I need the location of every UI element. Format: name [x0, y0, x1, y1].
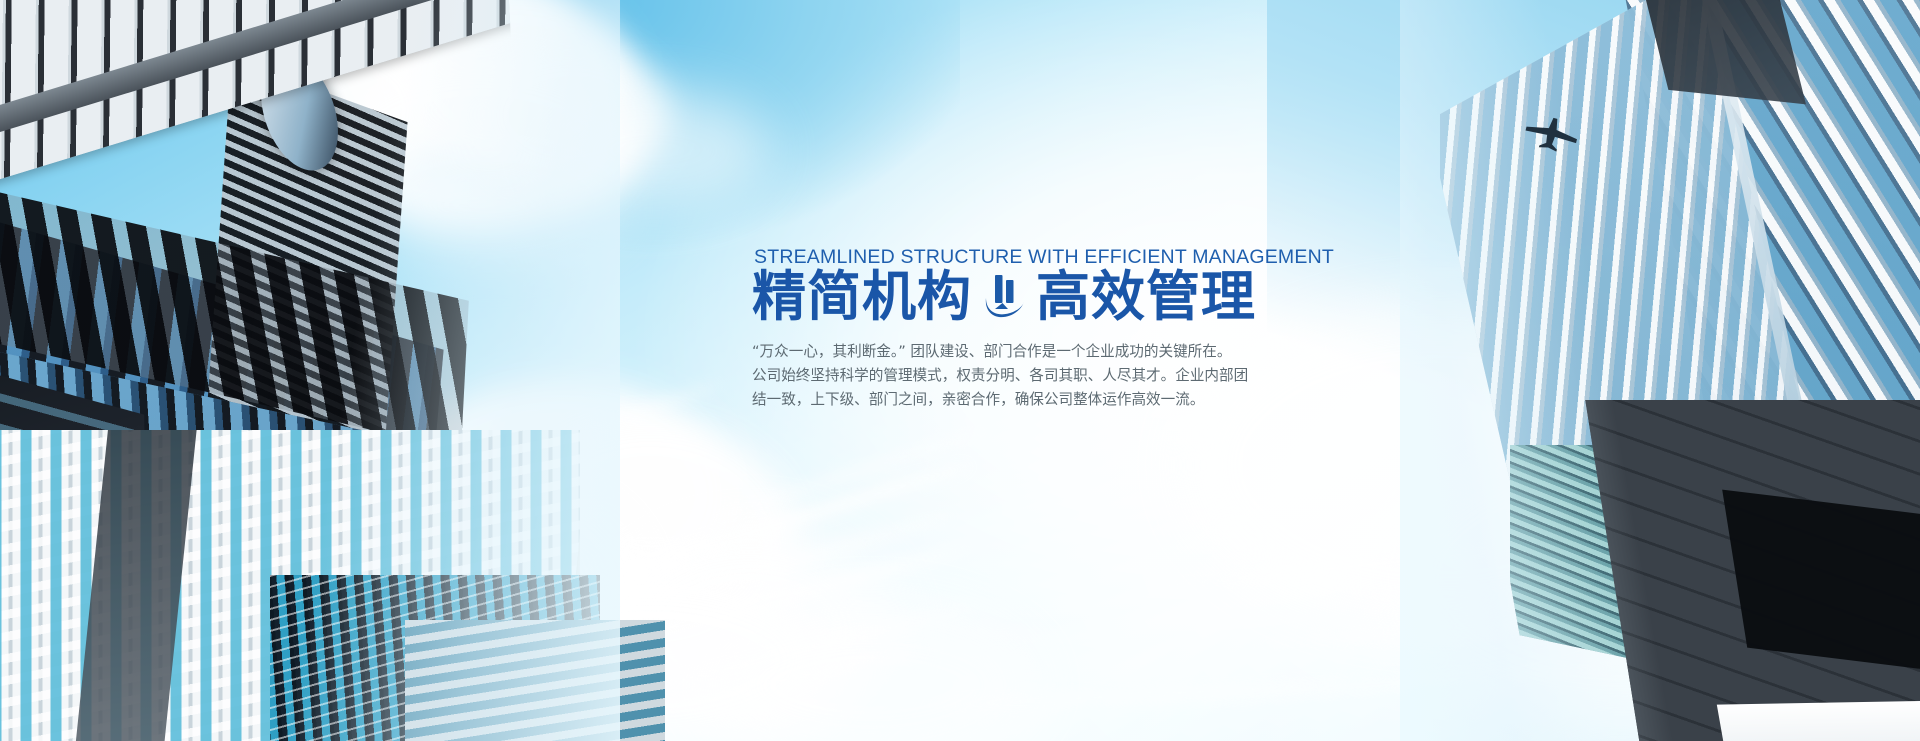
company-swoosh-logo-icon — [982, 272, 1026, 322]
paragraph-line: 公司始终坚持科学的管理模式，权责分明、各司其职、人尽其才。企业内部团 — [752, 364, 1292, 388]
headline-right-text: 高效管理 — [1036, 270, 1256, 324]
paragraph-line: 结一致，上下级、部门之间，亲密合作，确保公司整体运作高效一流。 — [752, 388, 1292, 412]
right-white-underside — [1717, 700, 1920, 741]
grey-teal-slab — [405, 620, 665, 741]
right-dark-block — [1580, 400, 1920, 741]
slab-body — [405, 620, 665, 741]
hero-banner: STREAMLINED STRUCTURE WITH EFFICIENT MAN… — [0, 0, 1920, 741]
headline-left-text: 精简机构 — [752, 270, 972, 324]
banner-copy: STREAMLINED STRUCTURE WITH EFFICIENT MAN… — [752, 246, 1372, 411]
banner-paragraph: “万众一心，其利断金。” 团队建设、部门合作是一个企业成功的关键所在。 公司始终… — [752, 340, 1292, 411]
banner-headline: 精简机构 高效管理 — [752, 270, 1372, 324]
paragraph-line: “万众一心，其利断金。” 团队建设、部门合作是一个企业成功的关键所在。 — [752, 340, 1292, 364]
